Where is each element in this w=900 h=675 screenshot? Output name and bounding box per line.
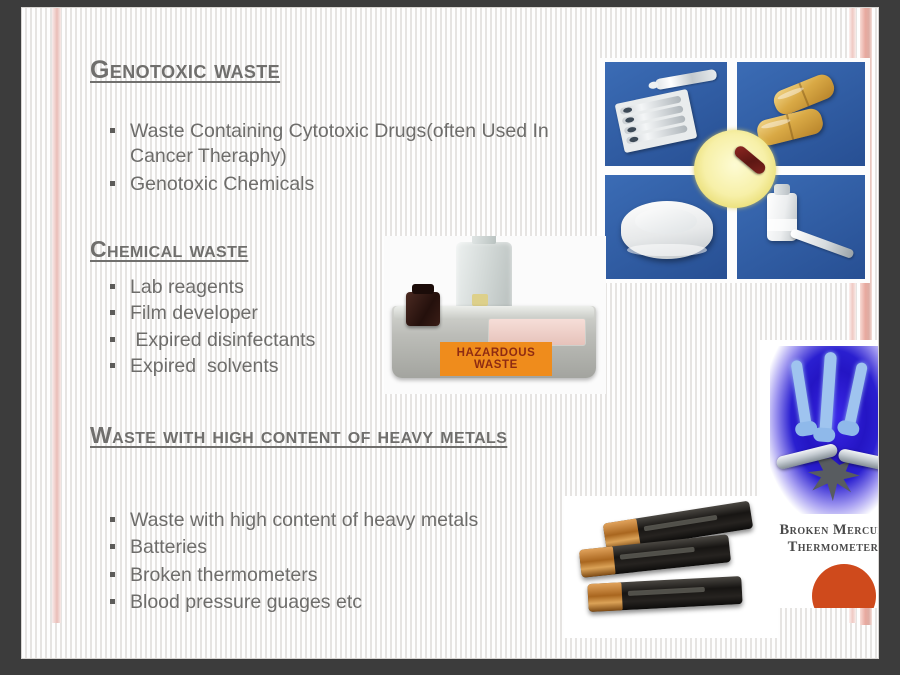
- mercury-spill-splat: [808, 458, 862, 502]
- bullets-chemical-waste: Lab reagents Film developer Expired disi…: [100, 275, 430, 380]
- bottle-label: [472, 294, 488, 306]
- presentation-slide: Genotoxic waste Waste Containing Cytotox…: [22, 8, 878, 658]
- list-item: Blood pressure guages etc: [100, 590, 580, 615]
- hazardous-waste-label: HAZARDOUS WASTE: [440, 342, 552, 376]
- hazardous-waste-tray-image: HAZARDOUS WASTE: [384, 236, 606, 394]
- section-heavy-metals: Waste with high content of heavy metals: [90, 422, 570, 449]
- mercury-vapor-graphic: [770, 346, 878, 514]
- bullets-heavy-metals: Waste with high content of heavy metals …: [100, 508, 580, 617]
- screen: Genotoxic waste Waste Containing Cytotox…: [0, 0, 900, 675]
- list-item: Broken thermometers: [100, 563, 580, 588]
- needle-icon: [789, 228, 854, 259]
- bullets-genotoxic-waste: Waste Containing Cytotoxic Drugs(often U…: [100, 119, 570, 199]
- heading-heavy-metals: Waste with high content of heavy metals: [90, 422, 570, 449]
- list-item: Waste with high content of heavy metals: [100, 508, 580, 533]
- slide-content: Genotoxic waste Waste Containing Cytotox…: [22, 8, 878, 658]
- list-item: Expired solvents: [100, 354, 430, 379]
- dark-reagent-jar-icon: [406, 292, 440, 326]
- list-item: Lab reagents: [100, 275, 430, 300]
- batteries-image: [564, 496, 778, 638]
- vapor-wisp-icon: [819, 352, 837, 439]
- battery-icon: [587, 576, 742, 612]
- syringe-icon: [655, 69, 718, 91]
- list-item: Waste Containing Cytotoxic Drugs(often U…: [100, 119, 570, 170]
- heading-genotoxic-waste: Genotoxic waste: [90, 56, 570, 85]
- vapor-wisp-icon: [790, 360, 812, 433]
- pharmaceutical-products-collage-image: [600, 58, 870, 283]
- virus-burst-graphic: [680, 118, 790, 220]
- list-item: Batteries: [100, 535, 580, 560]
- section-genotoxic-waste: Genotoxic waste: [90, 56, 570, 85]
- list-item: Film developer: [100, 301, 430, 326]
- orange-disc-graphic: [812, 564, 876, 608]
- hazardous-label-line2: WASTE: [474, 359, 518, 371]
- hazardous-label-line1: HAZARDOUS: [457, 347, 536, 359]
- vapor-wisp-icon: [843, 362, 868, 433]
- list-item: Genotoxic Chemicals: [100, 172, 570, 197]
- list-item: Expired disinfectants: [100, 328, 430, 353]
